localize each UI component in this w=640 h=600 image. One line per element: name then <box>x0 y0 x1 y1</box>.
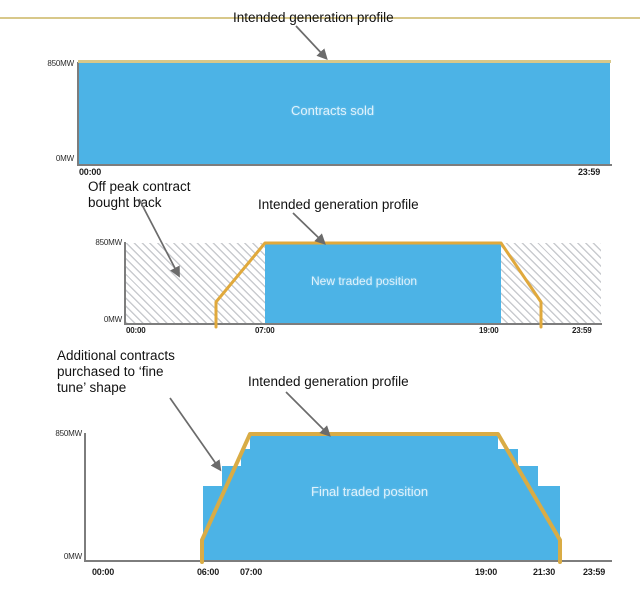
callout-intended-profile-1: Intended generation profile <box>233 10 394 26</box>
chart-new-traded-position: Off peak contract bought back Intended g… <box>0 180 640 340</box>
y-axis-min-label-2: 0MW <box>70 315 122 324</box>
x-tick-1-0: 00:00 <box>79 167 101 177</box>
final-step-left-1 <box>203 486 222 560</box>
x-axis-line-1 <box>77 164 612 166</box>
final-step-right-2 <box>518 466 538 560</box>
x-axis-line-3 <box>84 560 612 562</box>
x-tick-2-3: 23:59 <box>572 326 591 335</box>
x-tick-1-1: 23:59 <box>578 167 600 177</box>
x-tick-3-2: 07:00 <box>240 567 262 577</box>
x-tick-3-5: 23:59 <box>583 567 605 577</box>
y-axis-min-label-3: 0MW <box>30 552 82 561</box>
x-tick-2-1: 07:00 <box>255 326 274 335</box>
diagram-canvas: Intended generation profile 850MW 0MW Co… <box>0 0 640 600</box>
callout-intended-profile-2: Intended generation profile <box>258 197 419 213</box>
y-axis-min-label-1: 0MW <box>22 154 74 163</box>
series-label-contracts-sold: Contracts sold <box>291 103 374 118</box>
chart-final-traded-position: Additional contracts purchased to ‘fine … <box>0 345 640 600</box>
callout-off-peak-bought-back: Off peak contract bought back <box>88 179 191 211</box>
y-axis-max-label-3: 850MW <box>30 429 82 438</box>
x-tick-2-2: 19:00 <box>479 326 498 335</box>
y-axis-max-label-1: 850MW <box>22 59 74 68</box>
y-axis-line-3 <box>84 433 86 562</box>
x-axis-line-2 <box>124 323 602 325</box>
callout-additional-contracts: Additional contracts purchased to ‘fine … <box>57 348 175 396</box>
series-label-final-traded-position: Final traded position <box>311 484 428 499</box>
final-step-left-2 <box>222 466 241 560</box>
x-tick-3-0: 00:00 <box>92 567 114 577</box>
final-step-right-1 <box>498 449 518 560</box>
intended-profile-line-1 <box>78 60 611 63</box>
callout-intended-profile-3: Intended generation profile <box>248 374 409 390</box>
chart-contracts-sold: Intended generation profile 850MW 0MW Co… <box>0 40 640 180</box>
final-step-right-3 <box>538 486 560 560</box>
series-label-new-traded-position: New traded position <box>311 274 417 288</box>
x-tick-3-3: 19:00 <box>475 567 497 577</box>
x-tick-3-1: 06:00 <box>197 567 219 577</box>
y-axis-max-label-2: 850MW <box>70 238 122 247</box>
x-tick-3-4: 21:30 <box>533 567 555 577</box>
x-tick-2-0: 00:00 <box>126 326 145 335</box>
